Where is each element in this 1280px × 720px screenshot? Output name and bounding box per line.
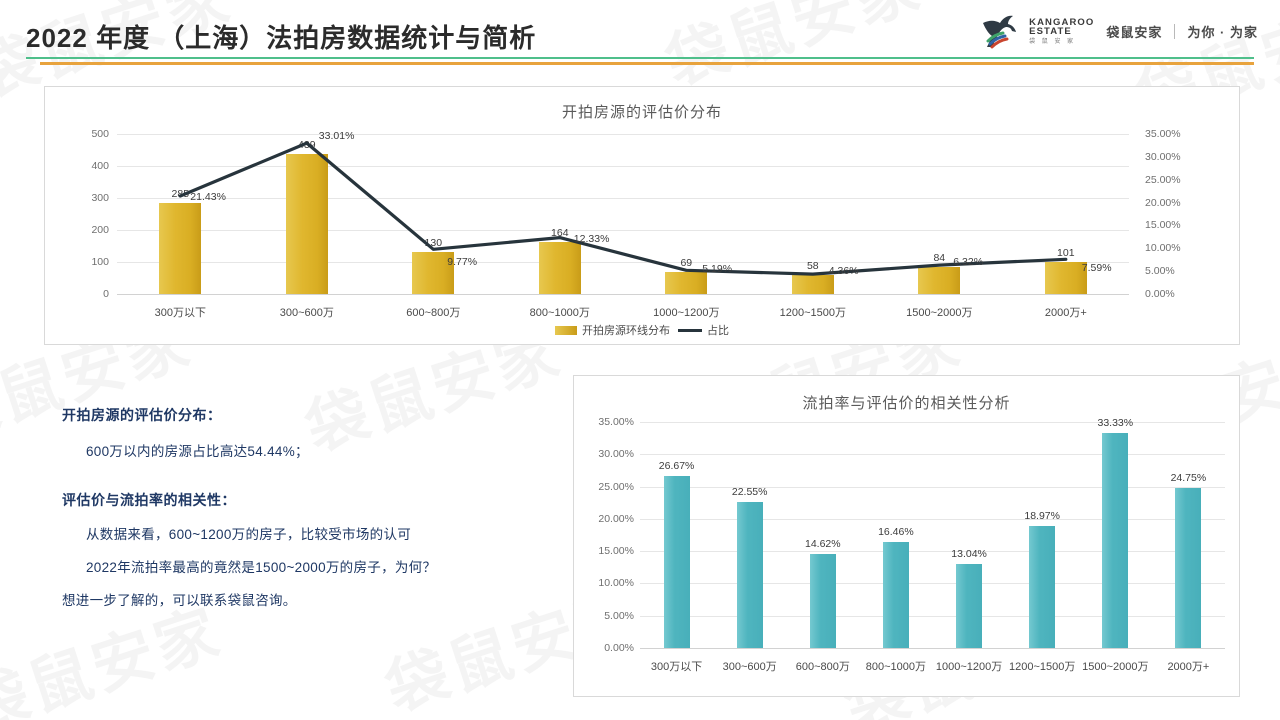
page-header: 2022 年度 （上海）法拍房数据统计与简析 KANGAROO ESTATE 袋… bbox=[0, 0, 1280, 72]
x-axis-tick: 800~1000万 bbox=[530, 304, 590, 320]
brand-slogan: 为你 · 为家 bbox=[1187, 22, 1258, 41]
x-axis-tick: 1200~1500万 bbox=[780, 304, 846, 320]
y-axis-tick: 10.00% bbox=[578, 577, 634, 589]
x-axis-tick: 1500~2000万 bbox=[906, 304, 972, 320]
percentage-label: 12.33% bbox=[574, 233, 610, 245]
page-title: 2022 年度 （上海）法拍房数据统计与简析 bbox=[26, 18, 536, 55]
bottom-chart-plot: 0.00%5.00%10.00%15.00%20.00%25.00%30.00%… bbox=[640, 422, 1225, 648]
grid-line bbox=[640, 454, 1225, 455]
grid-line bbox=[640, 422, 1225, 423]
grid-line bbox=[640, 487, 1225, 488]
header-rule-orange bbox=[40, 62, 1254, 65]
y-axis-tick: 25.00% bbox=[578, 481, 634, 493]
y-axis-tick-left: 200 bbox=[59, 224, 109, 236]
y-axis-tick-right: 25.00% bbox=[1145, 174, 1205, 186]
bottom-chart-card: 流拍率与评估价的相关性分析 0.00%5.00%10.00%15.00%20.0… bbox=[573, 375, 1240, 697]
bar[interactable] bbox=[1029, 526, 1055, 649]
percentage-label: 5.19% bbox=[702, 263, 732, 275]
y-axis-tick-left: 400 bbox=[59, 160, 109, 172]
commentary-point-3: 2022年流拍率最高的竟然是1500~2000万的房子，为何？ bbox=[62, 559, 532, 578]
y-axis-tick-left: 500 bbox=[59, 128, 109, 140]
y-axis-tick-right: 35.00% bbox=[1145, 128, 1205, 140]
bar[interactable] bbox=[883, 542, 909, 648]
logo-line-2: ESTATE bbox=[1029, 27, 1094, 37]
brand-divider bbox=[1174, 24, 1175, 39]
bar-value-label: 14.62% bbox=[805, 538, 841, 550]
bar-value-label: 18.97% bbox=[1024, 510, 1060, 522]
x-axis-tick: 600~800万 bbox=[406, 304, 460, 320]
x-axis-tick: 300~600万 bbox=[723, 658, 777, 674]
bar[interactable] bbox=[956, 564, 982, 648]
bar-value-label: 33.33% bbox=[1097, 417, 1133, 429]
y-axis-tick-left: 100 bbox=[59, 256, 109, 268]
top-chart-plot: 01002003004005000.00%5.00%10.00%15.00%20… bbox=[117, 134, 1129, 294]
bar-value-label: 16.46% bbox=[878, 526, 914, 538]
legend-item-line[interactable]: 占比 bbox=[678, 322, 729, 338]
x-axis-tick: 1200~1500万 bbox=[1009, 658, 1075, 674]
percentage-label: 9.77% bbox=[447, 256, 477, 268]
percentage-label: 33.01% bbox=[319, 130, 355, 142]
legend-item-bar[interactable]: 开拍房源环线分布 bbox=[555, 322, 670, 338]
y-axis-tick: 5.00% bbox=[578, 610, 634, 622]
y-axis-tick-right: 20.00% bbox=[1145, 197, 1205, 209]
top-chart-title: 开拍房源的评估价分布 bbox=[45, 101, 1239, 122]
bar-value-label: 13.04% bbox=[951, 548, 987, 560]
grid-line bbox=[640, 616, 1225, 617]
logo-line-3: 袋 鼠 安 家 bbox=[1029, 39, 1094, 45]
percentage-label: 6.32% bbox=[953, 256, 983, 268]
logo: KANGAROO ESTATE 袋 鼠 安 家 bbox=[979, 11, 1094, 51]
legend-swatch-line-icon bbox=[678, 329, 702, 332]
x-axis-tick: 2000万+ bbox=[1167, 658, 1209, 674]
legend-label-bar: 开拍房源环线分布 bbox=[582, 322, 670, 338]
grid-line bbox=[640, 519, 1225, 520]
y-axis-tick: 35.00% bbox=[578, 416, 634, 428]
legend-label-line: 占比 bbox=[707, 322, 729, 338]
y-axis-tick: 15.00% bbox=[578, 545, 634, 557]
grid-line bbox=[640, 648, 1225, 649]
x-axis-tick: 1500~2000万 bbox=[1082, 658, 1148, 674]
x-axis-tick: 600~800万 bbox=[796, 658, 850, 674]
top-chart-card: 开拍房源的评估价分布 01002003004005000.00%5.00%10.… bbox=[44, 86, 1240, 345]
bar-value-label: 22.55% bbox=[732, 486, 768, 498]
x-axis-tick: 300万以下 bbox=[651, 658, 702, 674]
commentary-point-4: 想进一步了解的，可以联系袋鼠咨询。 bbox=[62, 592, 532, 611]
percentage-label: 21.43% bbox=[190, 191, 226, 203]
bar[interactable] bbox=[810, 554, 836, 648]
x-axis-tick: 1000~1200万 bbox=[653, 304, 719, 320]
bar[interactable] bbox=[1102, 433, 1128, 648]
y-axis-tick: 0.00% bbox=[578, 642, 634, 654]
grid-line bbox=[640, 583, 1225, 584]
y-axis-tick-right: 0.00% bbox=[1145, 288, 1205, 300]
top-chart-legend: 开拍房源环线分布 占比 bbox=[45, 322, 1239, 338]
x-axis-tick: 2000万+ bbox=[1045, 304, 1087, 320]
percentage-label: 7.59% bbox=[1082, 262, 1112, 274]
grid-line bbox=[117, 294, 1129, 295]
y-axis-tick: 30.00% bbox=[578, 448, 634, 460]
x-axis-tick: 300万以下 bbox=[155, 304, 206, 320]
commentary-point-1: 600万以内的房源占比高达54.44%； bbox=[62, 443, 532, 462]
bar-value-label: 26.67% bbox=[659, 460, 695, 472]
kangaroo-logo-icon bbox=[979, 11, 1023, 51]
x-axis-tick: 1000~1200万 bbox=[936, 658, 1002, 674]
commentary-point-2: 从数据来看，600~1200万的房子，比较受市场的认可 bbox=[62, 526, 532, 545]
bar[interactable] bbox=[1175, 488, 1201, 648]
header-rule-green bbox=[26, 57, 1254, 59]
y-axis-tick-right: 5.00% bbox=[1145, 265, 1205, 277]
brand-name: 袋鼠安家 bbox=[1106, 22, 1162, 41]
y-axis-tick: 20.00% bbox=[578, 513, 634, 525]
bar[interactable] bbox=[737, 502, 763, 648]
commentary-heading-1: 开拍房源的评估价分布： bbox=[62, 405, 532, 425]
y-axis-tick-right: 15.00% bbox=[1145, 219, 1205, 231]
logo-wordmark: KANGAROO ESTATE 袋 鼠 安 家 bbox=[1029, 18, 1094, 45]
commentary-panel: 开拍房源的评估价分布： 600万以内的房源占比高达54.44%； 评估价与流拍率… bbox=[62, 405, 532, 611]
y-axis-tick-right: 10.00% bbox=[1145, 242, 1205, 254]
y-axis-tick-right: 30.00% bbox=[1145, 151, 1205, 163]
percentage-label: 4.36% bbox=[829, 265, 859, 277]
bar[interactable] bbox=[664, 476, 690, 648]
x-axis-tick: 300~600万 bbox=[280, 304, 334, 320]
percentage-line[interactable] bbox=[117, 134, 1129, 294]
commentary-heading-2: 评估价与流拍率的相关性： bbox=[62, 490, 532, 510]
grid-line bbox=[640, 551, 1225, 552]
y-axis-tick-left: 0 bbox=[59, 288, 109, 300]
bar-value-label: 24.75% bbox=[1171, 472, 1207, 484]
brand-bar: KANGAROO ESTATE 袋 鼠 安 家 袋鼠安家 为你 · 为家 bbox=[979, 8, 1258, 54]
y-axis-tick-left: 300 bbox=[59, 192, 109, 204]
bottom-chart-title: 流拍率与评估价的相关性分析 bbox=[574, 392, 1239, 413]
legend-swatch-bar-icon bbox=[555, 326, 577, 335]
x-axis-tick: 800~1000万 bbox=[866, 658, 926, 674]
